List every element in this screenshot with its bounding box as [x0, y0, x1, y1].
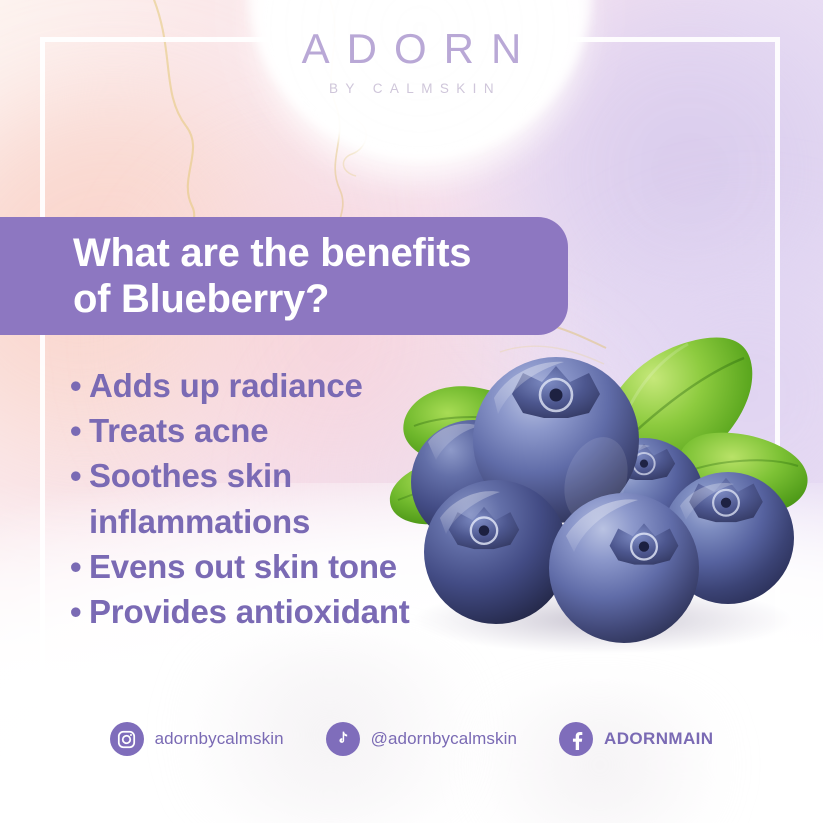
social-instagram[interactable]: adornbycalmskin: [110, 722, 284, 756]
benefits-list: • Adds up radiance • Treats acne • Sooth…: [70, 363, 520, 634]
tiktok-handle[interactable]: @adornbycalmskin: [371, 729, 517, 749]
bullet-icon: •: [70, 453, 89, 498]
berry-crown-front-center: [610, 523, 679, 564]
banner-title: What are the benefits of Blueberry?: [0, 230, 507, 323]
benefit-item-2: • Treats acne: [70, 408, 520, 453]
title-banner: What are the benefits of Blueberry?: [0, 217, 568, 335]
tiktok-icon[interactable]: [326, 722, 360, 756]
benefit-label: Provides antioxidant: [89, 589, 410, 634]
instagram-icon[interactable]: [110, 722, 144, 756]
bullet-icon: •: [70, 544, 89, 589]
poster-canvas: ADORN BY CALMSKIN: [0, 0, 823, 823]
brand-name: ADORN: [0, 26, 823, 72]
benefit-label: Treats acne: [89, 408, 268, 453]
brand-logo: ADORN BY CALMSKIN: [0, 26, 823, 96]
benefit-label: Evens out skin tone: [89, 544, 397, 589]
social-tiktok[interactable]: @adornbycalmskin: [326, 722, 517, 756]
bullet-icon: •: [70, 363, 89, 408]
bullet-icon: •: [70, 408, 89, 453]
benefit-item-4: • Evens out skin tone: [70, 544, 520, 589]
berry-front-center: [549, 493, 699, 643]
social-footer: adornbycalmskin @adornbycalmskin ADORNMA…: [0, 722, 823, 756]
benefit-label: Adds up radiance: [89, 363, 363, 408]
benefit-label: Soothes skin inflammations: [89, 453, 310, 543]
brand-tagline: BY CALMSKIN: [0, 81, 823, 96]
social-facebook[interactable]: ADORNMAIN: [559, 722, 713, 756]
instagram-handle[interactable]: adornbycalmskin: [155, 729, 284, 749]
benefit-item-3: • Soothes skin inflammations: [70, 453, 520, 543]
benefit-item-5: • Provides antioxidant: [70, 589, 520, 634]
bullet-icon: •: [70, 589, 89, 634]
benefit-item-1: • Adds up radiance: [70, 363, 520, 408]
facebook-icon[interactable]: [559, 722, 593, 756]
facebook-handle[interactable]: ADORNMAIN: [604, 729, 713, 749]
